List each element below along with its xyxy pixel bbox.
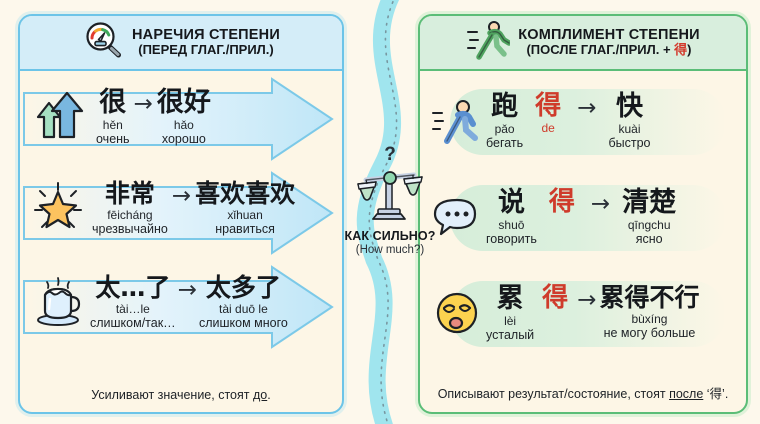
- russian-text: быстро: [608, 137, 650, 150]
- left-row-2-source: 非常 fēicháng чрезвычайно: [92, 181, 168, 236]
- russian-text: слишком много: [199, 317, 288, 330]
- right-footer-emphasis: после: [669, 387, 703, 401]
- right-panel: КОМПЛИМЕНТ СТЕПЕНИ (ПОСЛЕ ГЛАГ./ПРИЛ. + …: [418, 14, 748, 414]
- pinyin-text: qīngchu: [622, 219, 676, 231]
- right-rows: 跑 pǎo бегать 得 de → 快 kuài быстро: [420, 71, 746, 401]
- han-text: 太…了: [90, 275, 176, 300]
- left-row-3: 太…了 tài…le слишком/так… → 太多了 tài duō le…: [20, 261, 342, 353]
- pinyin-text: bùxíng: [599, 313, 699, 325]
- left-panel-title: НАРЕЧИЯ СТЕПЕНИ: [132, 27, 280, 43]
- running-person-blue-icon: [428, 91, 486, 153]
- right-row-3-verb: 累 lèi усталый: [486, 285, 534, 342]
- right-subtitle-de-char: 得: [674, 42, 687, 57]
- right-panel-title: КОМПЛИМЕНТ СТЕПЕНИ: [518, 27, 700, 43]
- russian-text: усталый: [486, 329, 534, 342]
- arrow-connector-icon: →: [130, 89, 157, 119]
- left-panel-subtitle: (ПЕРЕД ГЛАГ./ПРИЛ.): [132, 43, 280, 58]
- han-text: 很: [96, 89, 130, 116]
- left-footer-text: Усиливают значение, стоят: [91, 388, 253, 402]
- han-text: 说: [486, 189, 537, 216]
- right-row-2-particle: 得: [549, 189, 575, 215]
- right-panel-footer: Описывают результат/состояние, стоят пос…: [420, 383, 746, 402]
- centre-title: КАК СИЛЬНО?: [330, 229, 450, 243]
- russian-text: говорить: [486, 233, 537, 246]
- right-footer-end: ‘得’.: [703, 387, 728, 401]
- han-text: 喜欢喜欢: [195, 181, 295, 206]
- right-row-3-particle: 得: [542, 285, 568, 311]
- de-char: 得: [549, 189, 575, 215]
- right-row-1-particle: 得 de: [535, 93, 561, 134]
- right-row-2-verb: 说 shuō говорить: [486, 189, 537, 246]
- pinyin-text: fēicháng: [92, 209, 168, 221]
- right-panel-header: КОМПЛИМЕНТ СТЕПЕНИ (ПОСЛЕ ГЛАГ./ПРИЛ. + …: [420, 16, 746, 71]
- russian-text: не могу больше: [599, 327, 699, 340]
- left-rows: 很 hěn очень → 很好 hǎo хорошо: [20, 71, 342, 401]
- right-subtitle-pre: (ПОСЛЕ ГЛАГ./ПРИЛ. +: [526, 42, 674, 57]
- arrow-connector-icon: →: [176, 275, 199, 305]
- right-row-2: 说 shuō говорить 得 → 清楚 qīngchu ясно: [420, 179, 746, 257]
- question-mark: ?: [330, 150, 450, 160]
- right-footer-text: Описывают результат/состояние, стоят: [438, 387, 669, 401]
- han-text: 很好: [157, 89, 211, 116]
- weary-face-icon: [428, 283, 486, 345]
- overflowing-cup-icon: [30, 273, 88, 335]
- left-panel-footer: Усиливают значение, стоят до.: [20, 388, 342, 402]
- right-row-3-result: 累得不行 bùxíng не могу больше: [599, 285, 699, 340]
- han-text: 快: [608, 93, 650, 120]
- right-panel-subtitle: (ПОСЛЕ ГЛАГ./ПРИЛ. + 得): [518, 43, 700, 58]
- russian-text: чрезвычайно: [92, 223, 168, 236]
- pinyin-text: shuō: [486, 219, 537, 231]
- centre-block: ? КАК СИЛЬНО? (How much?): [330, 150, 450, 256]
- left-row-3-target: 太多了 tài duō le слишком много: [199, 275, 288, 330]
- arrow-connector-icon: →: [587, 189, 614, 219]
- pinyin-text: kuài: [608, 123, 650, 135]
- right-row-1-result: 快 kuài быстро: [608, 93, 650, 150]
- han-text: 跑: [486, 93, 523, 120]
- russian-text: ясно: [622, 233, 676, 246]
- right-row-3: 累 lèi усталый 得 → 累得不行 bùxíng не могу бо…: [420, 275, 746, 353]
- left-row-2-target: 喜欢喜欢 xǐhuan нравиться: [195, 181, 295, 236]
- arrow-connector-icon: →: [168, 181, 195, 211]
- pinyin-text: pǎo: [486, 123, 523, 135]
- right-subtitle-post: ): [687, 42, 691, 57]
- han-text: 非常: [92, 181, 168, 206]
- de-char: 得: [535, 93, 561, 119]
- russian-text: очень: [96, 133, 130, 146]
- han-text: 清楚: [622, 189, 676, 216]
- left-footer-emphasis: до: [253, 388, 267, 402]
- left-row-1: 很 hěn очень → 很好 hǎo хорошо: [20, 73, 342, 165]
- pinyin-text: hǎo: [157, 119, 211, 131]
- right-row-1: 跑 pǎo бегать 得 de → 快 kuài быстро: [420, 83, 746, 161]
- arrow-connector-icon: →: [573, 93, 600, 123]
- left-footer-end: .: [267, 388, 270, 402]
- sparkle-star-icon: [30, 179, 88, 241]
- han-text: 累: [486, 285, 534, 312]
- pinyin-text: tài duō le: [199, 303, 288, 315]
- left-row-1-source: 很 hěn очень: [96, 89, 130, 146]
- balance-scale-icon: [330, 160, 450, 227]
- han-text: 累得不行: [599, 285, 699, 310]
- pinyin-text: xǐhuan: [195, 209, 295, 221]
- russian-text: нравиться: [195, 223, 295, 236]
- infographic-canvas: НАРЕЧИЯ СТЕПЕНИ (ПЕРЕД ГЛАГ./ПРИЛ.): [0, 0, 760, 424]
- de-char: 得: [542, 285, 568, 311]
- pinyin-text: lèi: [486, 315, 534, 327]
- pinyin-text: hěn: [96, 119, 130, 131]
- han-text: 太多了: [199, 275, 288, 300]
- russian-text: хорошо: [157, 133, 211, 146]
- de-pinyin: de: [535, 122, 561, 134]
- magnifier-gauge-icon: [82, 19, 124, 66]
- up-arrows-icon: [32, 87, 90, 149]
- russian-text: бегать: [486, 137, 523, 150]
- running-person-green-icon: [466, 19, 510, 66]
- right-row-2-result: 清楚 qīngchu ясно: [622, 189, 676, 246]
- centre-subtitle: (How much?): [330, 244, 450, 256]
- arrow-connector-icon: →: [576, 285, 597, 315]
- right-row-1-verb: 跑 pǎo бегать: [486, 93, 523, 150]
- left-panel: НАРЕЧИЯ СТЕПЕНИ (ПЕРЕД ГЛАГ./ПРИЛ.): [18, 14, 344, 414]
- left-row-2: 非常 fēicháng чрезвычайно → 喜欢喜欢 xǐhuan нр…: [20, 167, 342, 259]
- pinyin-text: tài…le: [90, 303, 176, 315]
- left-panel-header: НАРЕЧИЯ СТЕПЕНИ (ПЕРЕД ГЛАГ./ПРИЛ.): [20, 16, 342, 71]
- russian-text: слишком/так…: [90, 317, 176, 330]
- left-row-3-source: 太…了 tài…le слишком/так…: [90, 275, 176, 330]
- left-row-1-target: 很好 hǎo хорошо: [157, 89, 211, 146]
